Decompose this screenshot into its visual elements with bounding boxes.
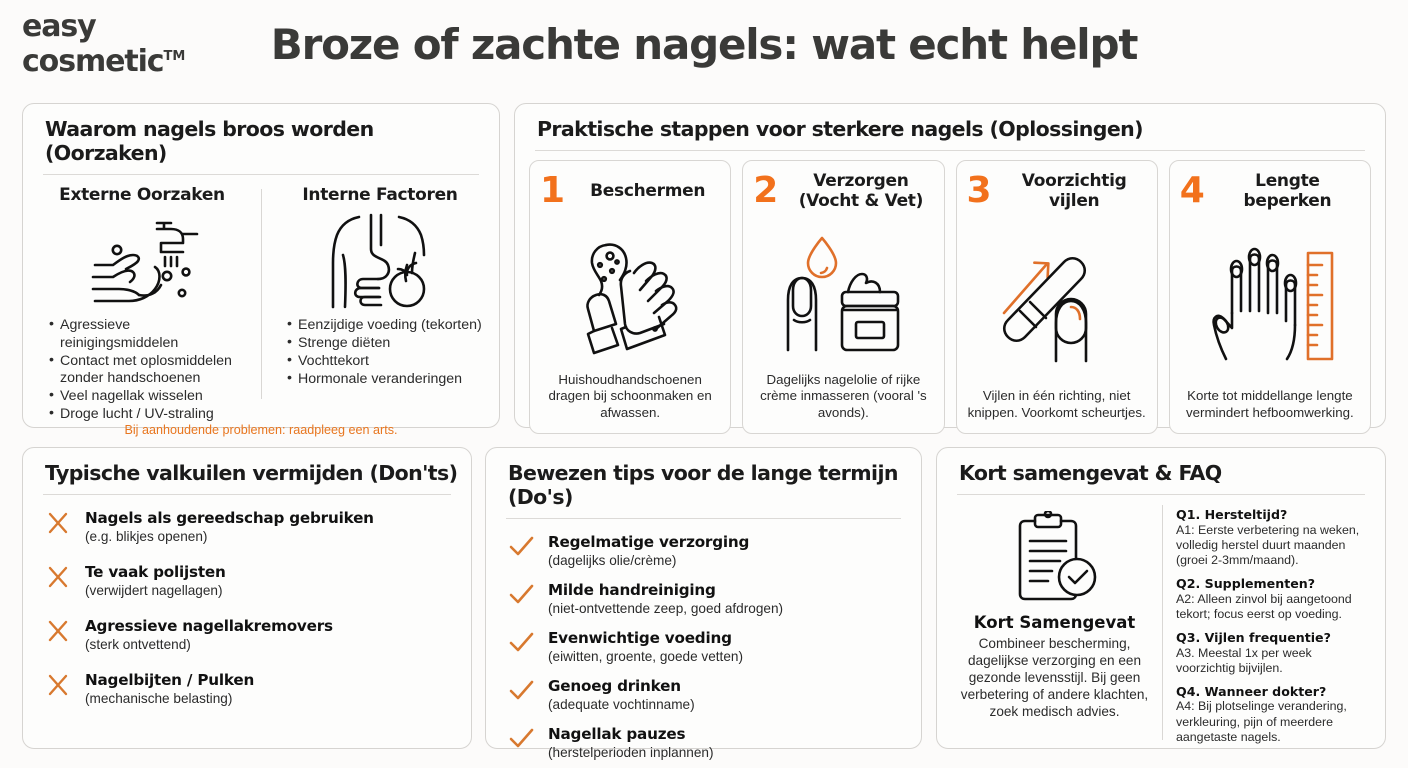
digestion-apple-icon (271, 209, 489, 317)
list-item: Strenge diëten (287, 335, 489, 353)
donts-item-title: Nagelbijten / Pulken (85, 671, 254, 689)
list-item: Evenwichtige voeding (eiwitten, groente,… (508, 629, 903, 666)
cross-icon (45, 672, 71, 698)
faq-question: Q4. Wanneer dokter? (1176, 684, 1371, 700)
oil-drop-cream-jar-icon (780, 215, 906, 372)
faq-card: Kort samengevat & FAQ Kort Samengevat Co… (936, 447, 1386, 749)
page-title: Broze of zachte nagels: wat echt helpt (0, 20, 1408, 69)
faq-answer: A1: Eerste verbetering na weken, volledi… (1176, 523, 1371, 569)
cross-icon (45, 564, 71, 590)
causes-external-list: Agressieve reinigingsmiddelen Contact me… (33, 317, 251, 424)
solutions-title: Praktische stappen voor sterkere nagels … (515, 104, 1385, 150)
donts-item-detail: (verwijdert nagellagen) (85, 583, 223, 598)
step-description: Vijlen in één richting, niet knippen. Vo… (957, 388, 1157, 433)
list-item: Nagellak pauzes (herstelperioden inplann… (508, 725, 903, 762)
list-item: Nagelbijten / Pulken (mechanische belast… (45, 671, 453, 708)
faq-summary-heading: Kort Samengevat (947, 613, 1162, 632)
faq-item: Q1. Hersteltijd? A1: Eerste verbetering … (1176, 507, 1371, 568)
handwashing-icon (33, 209, 251, 317)
causes-column-external: Externe Oorzaken (23, 185, 261, 411)
faq-item: Q3. Vijlen frequentie? A3. Meestal 1x pe… (1176, 630, 1371, 676)
faq-summary-text: Combineer bescherming, dagelijkse verzor… (947, 635, 1162, 720)
faq-item: Q4. Wanneer dokter? A4: Bij plotselinge … (1176, 684, 1371, 745)
list-item: Nagels als gereedschap gebruiken (e.g. b… (45, 509, 453, 546)
dos-item-title: Milde handreiniging (548, 581, 716, 599)
causes-internal-list: Eenzijdige voeding (tekorten) Strenge di… (271, 317, 489, 389)
dos-card: Bewezen tips voor de lange termijn (Do's… (485, 447, 922, 749)
infographic-page: easy cosmeticTM Broze of zachte nagels: … (0, 0, 1408, 768)
dos-title: Bewezen tips voor de lange termijn (Do's… (486, 448, 921, 518)
step-label: Verzorgen(Vocht & Vet) (786, 171, 935, 211)
check-icon (508, 678, 534, 704)
dos-item-detail: (dagelijks olie/crème) (548, 553, 676, 568)
dos-item-detail: (eiwitten, groente, goede vetten) (548, 649, 743, 664)
list-item: Agressieve reinigingsmiddelen (49, 317, 251, 352)
step-description: Huishoudhandschoenen dragen bij schoonma… (530, 372, 730, 434)
faq-question: Q3. Vijlen frequentie? (1176, 630, 1371, 646)
dos-item-title: Genoeg drinken (548, 677, 681, 695)
check-icon (508, 630, 534, 656)
check-icon (508, 582, 534, 608)
list-item: Veel nagellak wisselen (49, 388, 251, 406)
causes-note: Bij aanhoudende problemen: raadpleeg een… (23, 423, 499, 437)
list-item: Vochttekort (287, 353, 489, 371)
step-number: 3 (967, 172, 992, 210)
donts-card: Typische valkuilen vermijden (Don'ts) Na… (22, 447, 472, 749)
dos-item-title: Regelmatige verzorging (548, 533, 749, 551)
cross-icon (45, 510, 71, 536)
solutions-card: Praktische stappen voor sterkere nagels … (514, 103, 1386, 428)
donts-item-detail: (sterk ontvettend) (85, 637, 191, 652)
faq-answer: A4: Bij plotselinge verandering, verkleu… (1176, 699, 1371, 745)
cross-icon (45, 618, 71, 644)
step-description: Korte tot middellange lengte vermindert … (1170, 388, 1370, 433)
faq-answer: A3. Meestal 1x per week voorzichtig bijv… (1176, 646, 1371, 676)
dos-list: Regelmatige verzorging (dagelijks olie/c… (486, 519, 921, 762)
dos-item-title: Evenwichtige voeding (548, 629, 732, 647)
list-item: Droge lucht / UV-straling (49, 406, 251, 424)
nail-file-icon (994, 215, 1120, 388)
list-item: Eenzijdige voeding (tekorten) (287, 317, 489, 335)
causes-card: Waarom nagels broos worden (Oorzaken) Ex… (22, 103, 500, 428)
step-number: 2 (753, 172, 778, 210)
faq-questions: Q1. Hersteltijd? A1: Eerste verbetering … (1162, 505, 1371, 740)
step-label: Beschermen (573, 181, 722, 201)
faq-question: Q1. Hersteltijd? (1176, 507, 1371, 523)
list-item: Agressieve nagellakremovers (sterk ontve… (45, 617, 453, 654)
step-card-1: 1 Beschermen (529, 160, 731, 434)
donts-item-detail: (e.g. blikjes openen) (85, 529, 207, 544)
faq-item: Q2. Supplementen? A2: Alleen zinvol bij … (1176, 576, 1371, 622)
donts-title: Typische valkuilen vermijden (Don'ts) (23, 448, 471, 494)
causes-column-internal: Interne Factoren (261, 185, 499, 411)
causes-column-heading: Interne Factoren (271, 185, 489, 205)
dos-item-detail: (herstelperioden inplannen) (548, 745, 714, 760)
clipboard-check-icon (947, 511, 1162, 607)
donts-list: Nagels als gereedschap gebruiken (e.g. b… (23, 495, 471, 708)
list-item: Milde handreiniging (niet-ontvettende ze… (508, 581, 903, 618)
dos-item-title: Nagellak pauzes (548, 725, 685, 743)
list-item: Te vaak polijsten (verwijdert nagellagen… (45, 563, 453, 600)
faq-question: Q2. Supplementen? (1176, 576, 1371, 592)
faq-title: Kort samengevat & FAQ (937, 448, 1385, 494)
check-icon (508, 726, 534, 752)
list-item: Genoeg drinken (adequate vochtinname) (508, 677, 903, 714)
step-number: 4 (1180, 172, 1205, 210)
donts-item-title: Nagels als gereedschap gebruiken (85, 509, 374, 527)
gloves-icon (570, 215, 690, 372)
step-number: 1 (540, 172, 565, 210)
step-card-4: 4 Lengte beperken (1169, 160, 1371, 434)
check-icon (508, 534, 534, 560)
list-item: Hormonale veranderingen (287, 371, 489, 389)
donts-item-title: Te vaak polijsten (85, 563, 226, 581)
faq-summary: Kort Samengevat Combineer bescherming, d… (947, 505, 1162, 740)
donts-item-title: Agressieve nagellakremovers (85, 617, 333, 635)
step-card-2: 2 Verzorgen(Vocht & Vet) (742, 160, 944, 434)
dos-item-detail: (adequate vochtinname) (548, 697, 695, 712)
step-card-3: 3 Voorzichtig vijlen Vijlen i (956, 160, 1158, 434)
faq-answer: A2: Alleen zinvol bij aangetoond tekort;… (1176, 592, 1371, 622)
dos-item-detail: (niet-ontvettende zeep, goed afdrogen) (548, 601, 783, 616)
causes-column-heading: Externe Oorzaken (33, 185, 251, 205)
list-item: Regelmatige verzorging (dagelijks olie/c… (508, 533, 903, 570)
causes-title: Waarom nagels broos worden (Oorzaken) (23, 104, 499, 174)
step-label: Voorzichtig vijlen (1000, 171, 1149, 211)
hand-ruler-icon (1204, 215, 1336, 388)
step-label: Lengte beperken (1213, 171, 1362, 211)
list-item: Contact met oplosmiddelen zonder handsch… (49, 353, 251, 388)
step-description: Dagelijks nagelolie of rijke crème inmas… (743, 372, 943, 434)
header: easy cosmeticTM Broze of zachte nagels: … (0, 0, 1408, 96)
donts-item-detail: (mechanische belasting) (85, 691, 232, 706)
